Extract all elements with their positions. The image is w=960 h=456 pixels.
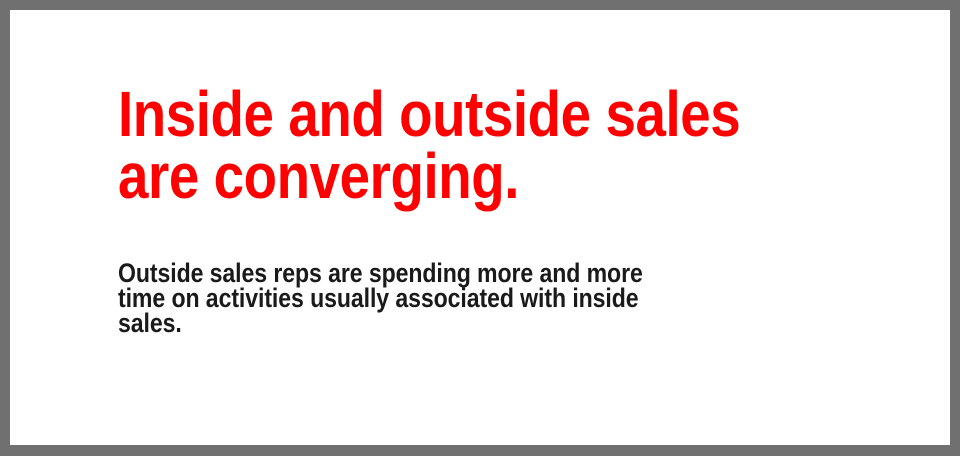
slide-frame: Inside and outside sales are converging.…	[0, 0, 960, 456]
slide-headline: Inside and outside sales are converging.	[118, 83, 751, 207]
slide-body-text: Outside sales reps are spending more and…	[118, 261, 819, 336]
slide-canvas: Inside and outside sales are converging.…	[10, 10, 950, 445]
